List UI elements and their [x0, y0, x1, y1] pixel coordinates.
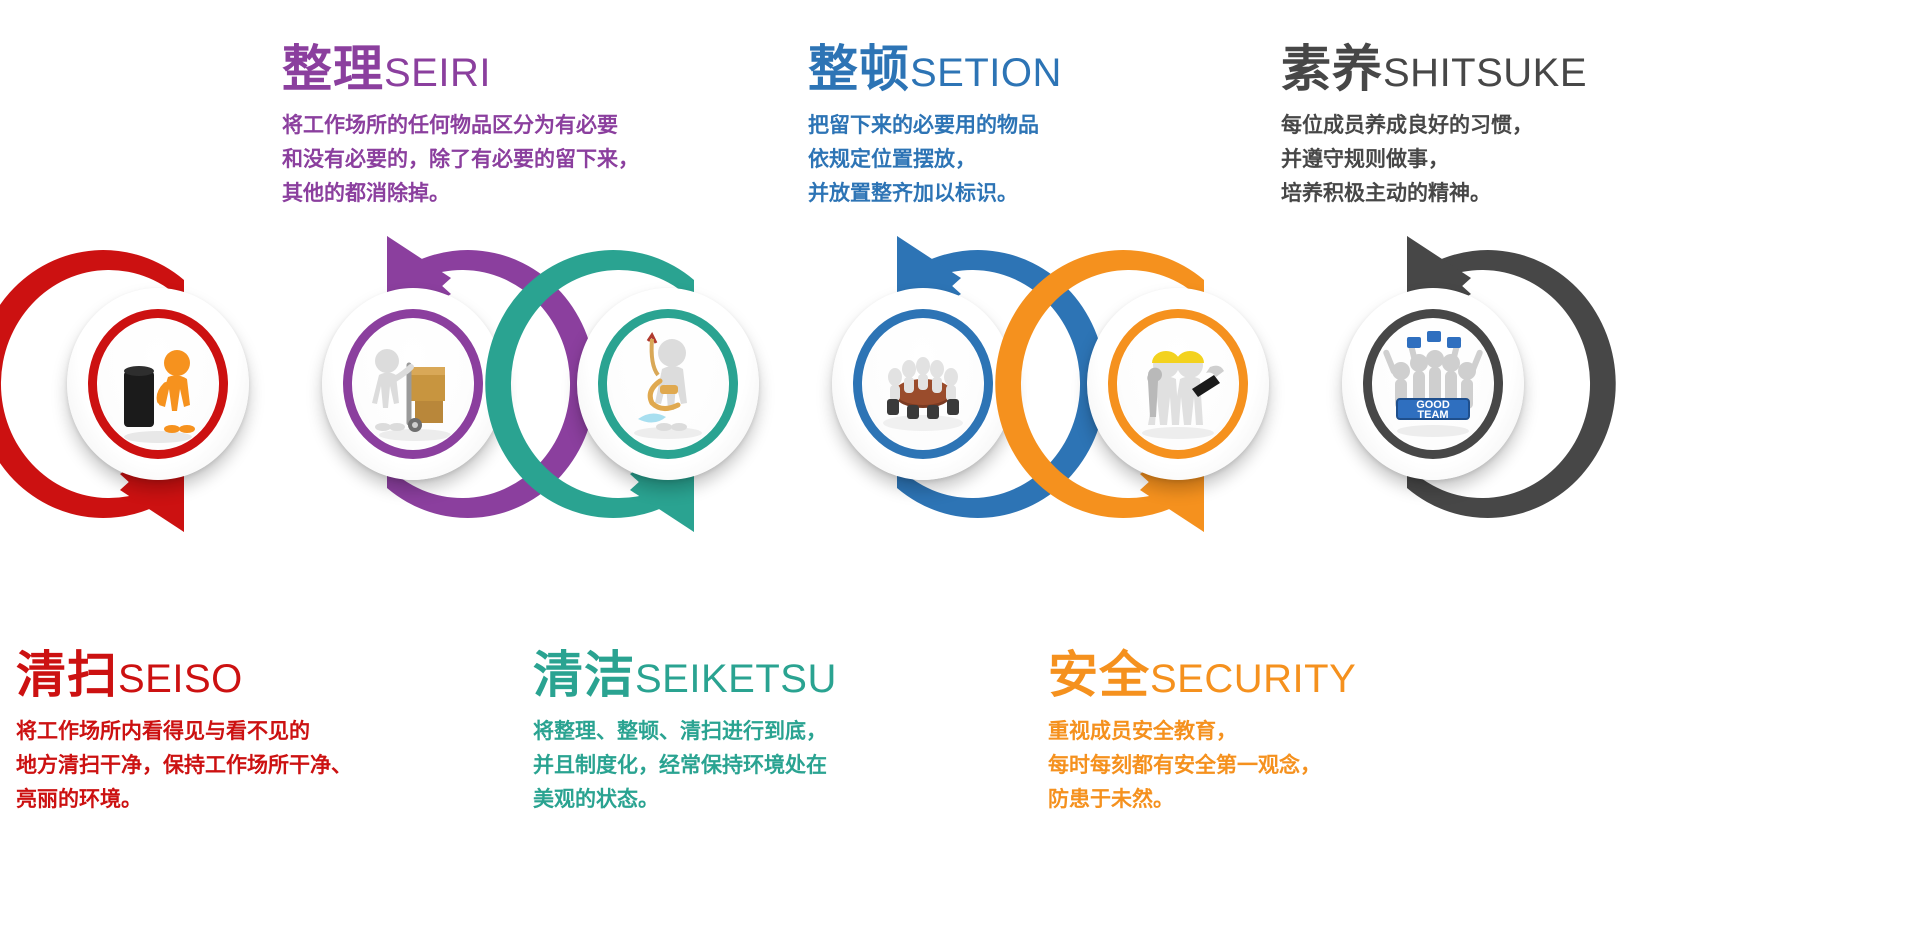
desc-line: 美观的状态。 — [533, 782, 837, 816]
ring-seiso — [88, 309, 228, 459]
icon-setion — [863, 319, 983, 449]
desc-line: 将工作场所的任何物品区分为有必要 — [282, 108, 639, 142]
desc-seiketsu: 将整理、整顿、清扫进行到底， 并且制度化，经常保持环境处在 美观的状态。 — [533, 714, 837, 816]
desc-line: 并放置整齐加以标识。 — [808, 176, 1062, 210]
title-en-shitsuke: SHITSUKE — [1383, 51, 1587, 95]
desc-seiso: 将工作场所内看得见与看不见的 地方清扫干净，保持工作场所干净、 亮丽的环境。 — [16, 714, 352, 816]
desc-line: 每位成员养成良好的习惯， — [1281, 108, 1587, 142]
infographic-canvas: 整理SEIRI 将工作场所的任何物品区分为有必要 和没有必要的，除了有必要的留下… — [0, 0, 1920, 926]
title-en-seiri: SEIRI — [384, 51, 491, 95]
desc-line: 并且制度化，经常保持环境处在 — [533, 748, 837, 782]
disc-seiso — [67, 288, 249, 480]
ring-setion — [853, 309, 993, 459]
desc-line: 重视成员安全教育， — [1048, 714, 1356, 748]
desc-line: 并遵守规则做事， — [1281, 142, 1587, 176]
text-block-seiso: 清扫SEISO 将工作场所内看得见与看不见的 地方清扫干净，保持工作场所干净、 … — [16, 650, 352, 816]
title-cn-seiso: 清扫 — [16, 646, 118, 704]
disc-security — [1087, 288, 1269, 480]
icon-shitsuke: GOOD TEAM — [1373, 319, 1493, 449]
ring-seiketsu — [598, 309, 738, 459]
icon-seiso — [98, 319, 218, 449]
desc-line: 防患于未然。 — [1048, 782, 1356, 816]
title-cn-security: 安全 — [1048, 646, 1150, 704]
text-block-security: 安全SECURITY 重视成员安全教育， 每时每刻都有安全第一观念， 防患于未然… — [1048, 650, 1356, 816]
disc-seiri — [322, 288, 504, 480]
desc-line: 每时每刻都有安全第一观念， — [1048, 748, 1356, 782]
title-seiri: 整理SEIRI — [282, 44, 639, 94]
desc-line: 其他的都消除掉。 — [282, 176, 639, 210]
text-block-seiketsu: 清洁SEIKETSU 将整理、整顿、清扫进行到底， 并且制度化，经常保持环境处在… — [533, 650, 837, 816]
title-cn-setion: 整顿 — [808, 40, 910, 98]
ring-shitsuke: GOOD TEAM — [1363, 309, 1503, 459]
title-cn-shitsuke: 素养 — [1281, 40, 1383, 98]
desc-shitsuke: 每位成员养成良好的习惯， 并遵守规则做事， 培养积极主动的精神。 — [1281, 108, 1587, 210]
title-seiketsu: 清洁SEIKETSU — [533, 650, 837, 700]
icon-seiketsu — [608, 319, 728, 449]
desc-setion: 把留下来的必要用的物品 依规定位置摆放， 并放置整齐加以标识。 — [808, 108, 1062, 210]
desc-line: 地方清扫干净，保持工作场所干净、 — [16, 748, 352, 782]
disc-shitsuke: GOOD TEAM — [1342, 288, 1524, 480]
disc-setion — [832, 288, 1014, 480]
icon-security — [1118, 319, 1238, 449]
cycle-row: GOOD TEAM — [0, 236, 1920, 532]
desc-line: 培养积极主动的精神。 — [1281, 176, 1587, 210]
text-block-shitsuke: 素养SHITSUKE 每位成员养成良好的习惯， 并遵守规则做事， 培养积极主动的… — [1281, 44, 1587, 210]
cycle-node-shitsuke[interactable]: GOOD TEAM — [1283, 236, 1583, 532]
ring-security — [1108, 309, 1248, 459]
title-shitsuke: 素养SHITSUKE — [1281, 44, 1587, 94]
title-cn-seiri: 整理 — [282, 40, 384, 98]
title-en-seiso: SEISO — [118, 657, 243, 701]
text-block-seiri: 整理SEIRI 将工作场所的任何物品区分为有必要 和没有必要的，除了有必要的留下… — [282, 44, 639, 210]
title-cn-seiketsu: 清洁 — [533, 646, 635, 704]
desc-security: 重视成员安全教育， 每时每刻都有安全第一观念， 防患于未然。 — [1048, 714, 1356, 816]
desc-line: 把留下来的必要用的物品 — [808, 108, 1062, 142]
title-en-security: SECURITY — [1150, 657, 1356, 701]
title-en-setion: SETION — [910, 51, 1062, 95]
text-block-setion: 整顿SETION 把留下来的必要用的物品 依规定位置摆放， 并放置整齐加以标识。 — [808, 44, 1062, 210]
title-en-seiketsu: SEIKETSU — [635, 657, 837, 701]
title-setion: 整顿SETION — [808, 44, 1062, 94]
ring-seiri — [343, 309, 483, 459]
desc-seiri: 将工作场所的任何物品区分为有必要 和没有必要的，除了有必要的留下来， 其他的都消… — [282, 108, 639, 210]
desc-line: 将整理、整顿、清扫进行到底， — [533, 714, 837, 748]
disc-seiketsu — [577, 288, 759, 480]
desc-line: 将工作场所内看得见与看不见的 — [16, 714, 352, 748]
desc-line: 和没有必要的，除了有必要的留下来， — [282, 142, 639, 176]
title-security: 安全SECURITY — [1048, 650, 1356, 700]
icon-seiri — [353, 319, 473, 449]
desc-line: 依规定位置摆放， — [808, 142, 1062, 176]
title-seiso: 清扫SEISO — [16, 650, 352, 700]
desc-line: 亮丽的环境。 — [16, 782, 352, 816]
svg-text:TEAM: TEAM — [1417, 409, 1448, 421]
